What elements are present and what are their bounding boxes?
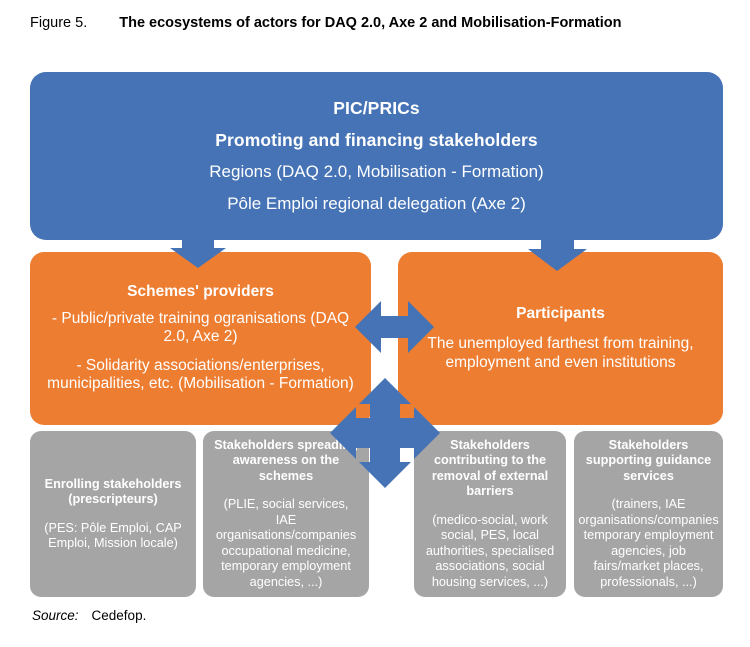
blue-box-line-regions: Regions (DAQ 2.0, Mobilisation - Formati… [209,163,543,181]
participants-body: The unemployed farthest from training, e… [414,335,707,372]
blue-box-subtitle: Promoting and financing stakeholders [215,131,538,149]
blue-box-line-pole-emploi: Pôle Emploi regional delegation (Axe 2) [227,195,526,213]
schemes-providers-item-2: - Solidarity associations/enterprises, m… [44,357,357,394]
awareness-stakeholders-heading: Stakeholders spreading awareness on the … [212,438,360,484]
participants-heading: Participants [516,305,605,322]
source-line: Source:Cedefop. [32,608,146,623]
source-value: Cedefop. [92,608,147,623]
grey-box-guidance-stakeholders: Stakeholders supporting guidance service… [574,431,723,597]
grey-box-enrolling-stakeholders: Enrolling stakeholders (prescripteurs) (… [30,431,196,597]
grey-box-awareness-stakeholders: Stakeholders spreading awareness on the … [203,431,369,597]
schemes-providers-heading: Schemes' providers [127,283,274,300]
enrolling-stakeholders-body: (PES: Pôle Emploi, CAP Emploi, Mission l… [39,521,187,552]
guidance-stakeholders-heading: Stakeholders supporting guidance service… [583,438,714,484]
source-label: Source: [32,608,79,623]
schemes-providers-item-1: - Public/private training ogranisations … [44,310,357,347]
orange-box-participants: Participants The unemployed farthest fro… [398,252,723,425]
ecosystem-diagram: PIC/PRICs Promoting and financing stakeh… [0,0,750,647]
external-barriers-stakeholders-body: (medico-social, work social, PES, local … [423,513,557,590]
external-barriers-stakeholders-heading: Stakeholders contributing to the removal… [423,438,557,500]
enrolling-stakeholders-heading: Enrolling stakeholders (prescripteurs) [39,477,187,508]
grey-box-external-barriers-stakeholders: Stakeholders contributing to the removal… [414,431,566,597]
awareness-stakeholders-body: (PLIE, social services, IAE organisation… [212,497,360,590]
blue-box-title: PIC/PRICs [333,99,419,117]
orange-box-schemes-providers: Schemes' providers - Public/private trai… [30,252,371,425]
blue-box-pic-prics: PIC/PRICs Promoting and financing stakeh… [30,72,723,240]
guidance-stakeholders-body: (trainers, IAE organisations/companies t… [578,497,718,590]
